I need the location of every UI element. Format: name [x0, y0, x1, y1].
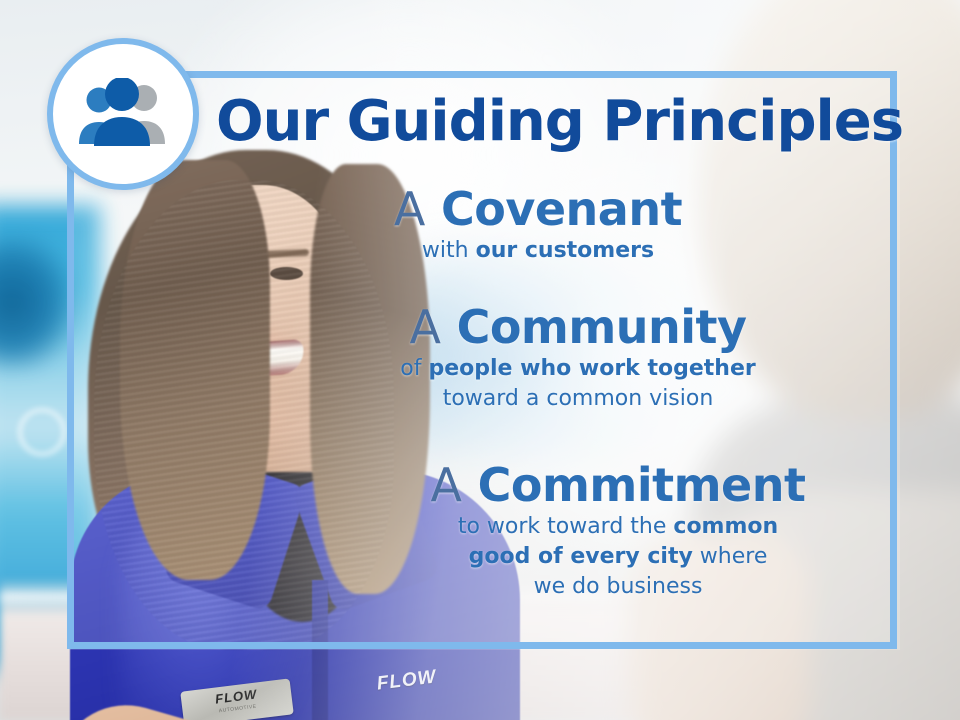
- subtext-line: good of every city where: [338, 542, 898, 572]
- blurred-brand-logo: [18, 408, 66, 456]
- subtext-line: with our customers: [258, 236, 818, 266]
- people-group-icon-badge: [47, 38, 199, 190]
- subtext-part: with: [422, 238, 476, 263]
- principle-block-community: A Community of people who work together …: [298, 300, 858, 414]
- subtext-part-bold: our customers: [476, 238, 655, 263]
- principle-headline-community: A Community: [298, 300, 858, 354]
- principle-subtext-covenant: with our customers: [258, 236, 818, 266]
- subtext-part: to work toward the: [458, 514, 674, 539]
- subtext-line: toward a common vision: [298, 384, 858, 414]
- subtext-part: we do business: [534, 574, 703, 599]
- subtext-part-bold: people who work together: [428, 356, 755, 381]
- principle-headline-covenant: A Covenant: [258, 182, 818, 236]
- principle-keyword: Covenant: [441, 182, 682, 236]
- subtext-part: of: [400, 356, 428, 381]
- subtext-line: of people who work together: [298, 354, 858, 384]
- principle-headline-commitment: A Commitment: [338, 458, 898, 512]
- subtext-part: toward a common vision: [443, 386, 714, 411]
- principle-keyword: Commitment: [478, 458, 806, 512]
- subtext-line: we do business: [338, 572, 898, 602]
- page-title: Our Guiding Principles: [216, 92, 876, 152]
- subtext-part: where: [693, 544, 768, 569]
- subtext-part-bold: good of every city: [469, 544, 693, 569]
- principle-keyword: Community: [457, 300, 747, 354]
- principle-block-commitment: A Commitment to work toward the common g…: [338, 458, 898, 602]
- principle-block-covenant: A Covenant with our customers: [258, 182, 818, 266]
- subtext-line: to work toward the common: [338, 512, 898, 542]
- people-group-icon: [75, 78, 171, 150]
- banner-image: FLOW AUTOMOTIVE FLOW Our Guidi: [0, 0, 960, 720]
- principle-article: A: [409, 300, 441, 354]
- principle-subtext-commitment: to work toward the common good of every …: [338, 512, 898, 602]
- principle-article: A: [431, 458, 463, 512]
- principle-subtext-community: of people who work together toward a com…: [298, 354, 858, 414]
- principle-article: A: [394, 182, 426, 236]
- subtext-part-bold: common: [673, 514, 778, 539]
